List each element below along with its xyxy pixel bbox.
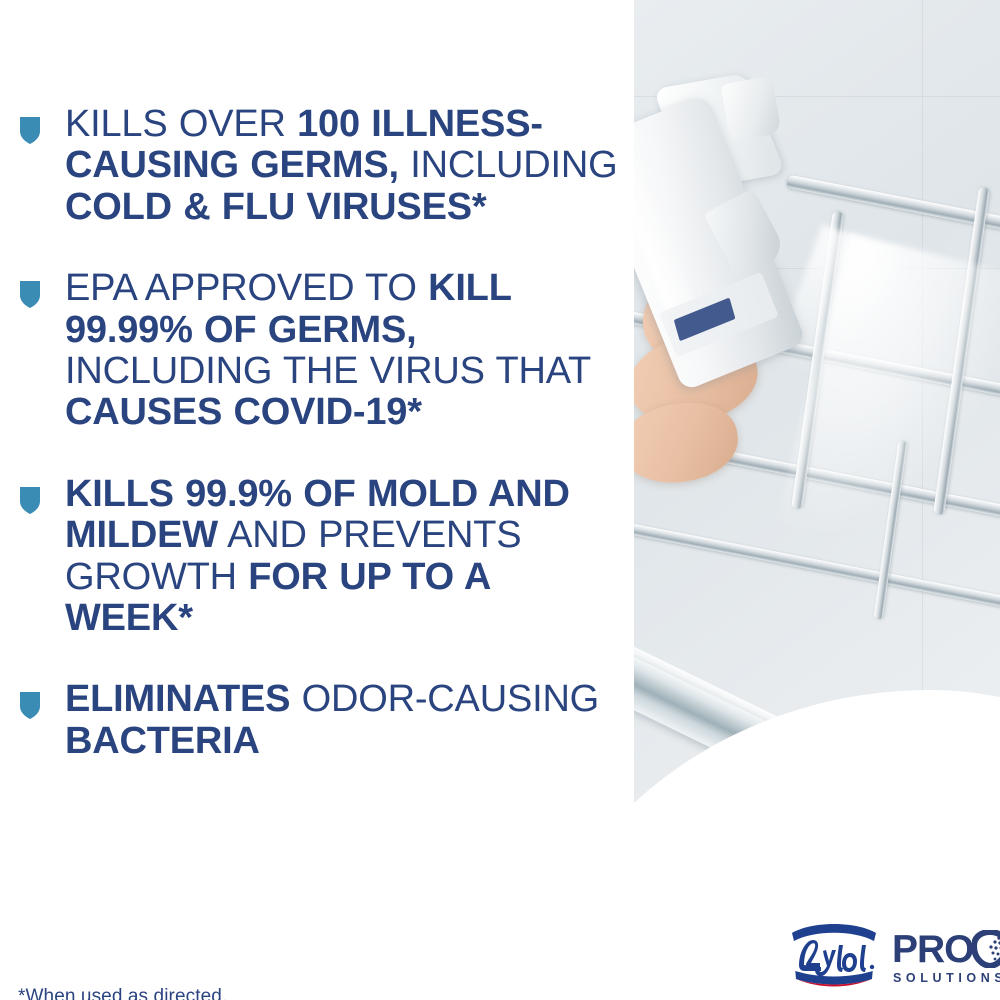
claim-item: Kills over 100 illness-causing germs, in… [0,104,620,228]
pro-solutions-logo: PRO [892,925,1000,985]
shield-icon [18,279,42,308]
claim-text: Kills over 100 illness-causing germs, in… [65,104,620,228]
claims-panel: Kills over 100 illness-causing germs, in… [0,0,634,1000]
lysol-logo [786,917,882,993]
pro-shield-o-icon [972,930,1000,968]
solutions-wordmark: SOLUTIONS [893,972,1000,985]
pro-wordmark: PRO [892,930,974,969]
footnote-disclaimer: *When used as directed. [18,986,227,1000]
claim-item: Kills 99.9% of mold and mildew and preve… [0,474,620,640]
shield-icon [18,485,42,514]
shield-icon [18,115,42,144]
claims-list: Kills over 100 illness-causing germs, in… [0,104,620,762]
product-photo [634,0,1000,1000]
shield-icon [18,690,42,719]
claim-text: Kills 99.9% of mold and mildew and preve… [65,474,620,640]
product-claims-page: Kills over 100 illness-causing germs, in… [0,0,1000,1000]
bottle-label-mark [674,298,736,342]
bottle-nozzle [720,76,781,142]
brand-logo-lockup: PRO [786,916,1000,994]
claim-text: EPA approved to kill 99.99% of germs, in… [65,268,620,434]
claim-text: Eliminates odor-causing bacteria [65,679,620,762]
claim-item: Eliminates odor-causing bacteria [0,679,620,762]
claim-item: EPA approved to kill 99.99% of germs, in… [0,268,620,434]
pro-row: PRO [892,929,1000,969]
